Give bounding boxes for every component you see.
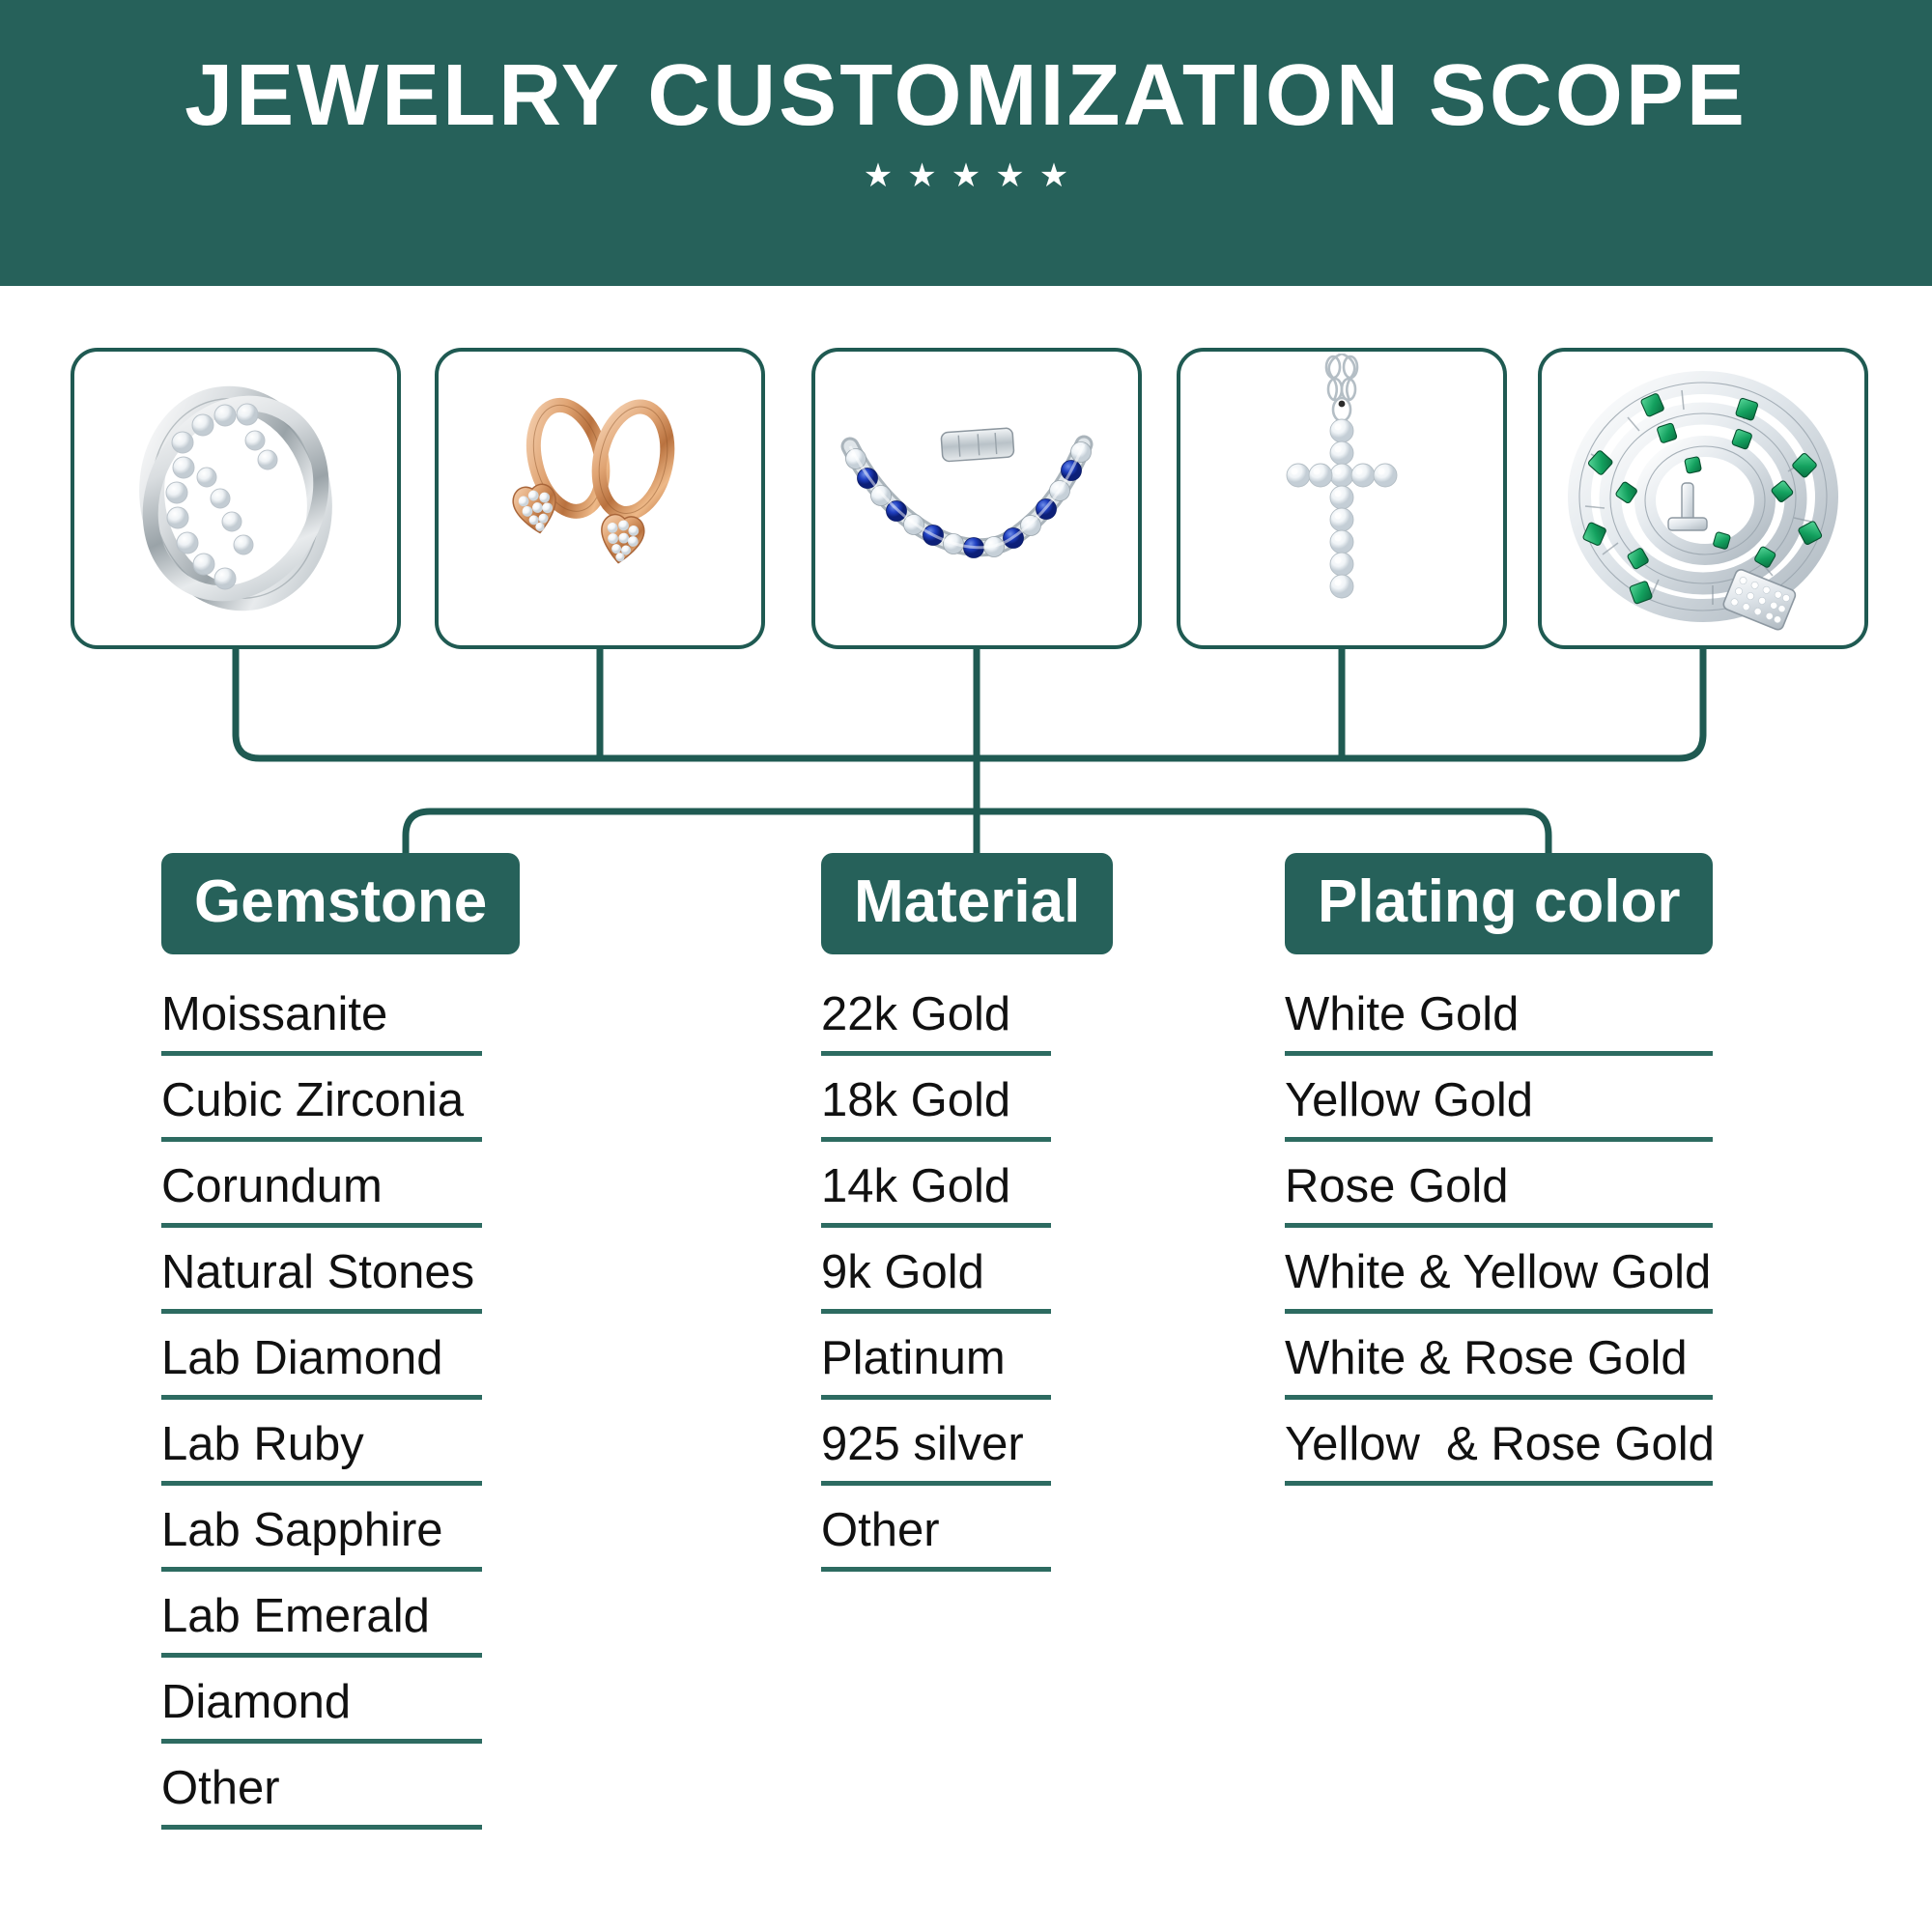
- product-card-sapphire-tennis-bracelet[interactable]: [811, 348, 1142, 649]
- list-item[interactable]: Rose Gold: [1285, 1159, 1713, 1228]
- list-item[interactable]: White Gold: [1285, 987, 1713, 1056]
- crossover-pave-ring-image: [74, 352, 397, 645]
- option-list-material: 22k Gold18k Gold14k Gold9k GoldPlatinum9…: [821, 987, 1135, 1572]
- list-item[interactable]: Lab Sapphire: [161, 1503, 482, 1572]
- list-item[interactable]: Lab Diamond: [161, 1331, 482, 1400]
- diamond-cross-pendant-image: [1180, 352, 1503, 645]
- list-item[interactable]: 14k Gold: [821, 1159, 1051, 1228]
- product-card-heart-drop-hoop-earrings[interactable]: [435, 348, 765, 649]
- list-item[interactable]: Corundum: [161, 1159, 482, 1228]
- list-item[interactable]: 9k Gold: [821, 1245, 1051, 1314]
- header-banner: JEWELRY CUSTOMIZATION SCOPE ★★★★★: [0, 0, 1932, 286]
- category-badge-gemstone[interactable]: Gemstone: [161, 853, 520, 954]
- product-card-emerald-cuban-link-chain[interactable]: [1538, 348, 1868, 649]
- star-icon: ★: [952, 159, 980, 192]
- list-item[interactable]: Cubic Zirconia: [161, 1073, 482, 1142]
- list-item[interactable]: Other: [161, 1761, 482, 1830]
- list-item[interactable]: Lab Ruby: [161, 1417, 482, 1486]
- list-item[interactable]: Natural Stones: [161, 1245, 482, 1314]
- list-item[interactable]: Platinum: [821, 1331, 1051, 1400]
- list-item[interactable]: Moissanite: [161, 987, 482, 1056]
- star-icon: ★: [907, 159, 936, 192]
- category-column-gemstone: GemstoneMoissaniteCubic ZirconiaCorundum…: [161, 853, 606, 1847]
- product-card-crossover-pave-ring[interactable]: [71, 348, 401, 649]
- list-item[interactable]: White & Rose Gold: [1285, 1331, 1713, 1400]
- list-item[interactable]: 22k Gold: [821, 987, 1051, 1056]
- list-item[interactable]: Lab Emerald: [161, 1589, 482, 1658]
- page-title: JEWELRY CUSTOMIZATION SCOPE: [185, 50, 1747, 142]
- emerald-cuban-link-chain-image: [1542, 352, 1864, 645]
- list-item[interactable]: White & Yellow Gold: [1285, 1245, 1713, 1314]
- product-card-row: [0, 348, 1932, 649]
- star-rating-decoration: ★★★★★: [864, 159, 1068, 192]
- category-column-plating-color: Plating colorWhite GoldYellow GoldRose G…: [1285, 853, 1864, 1503]
- list-item[interactable]: Other: [821, 1503, 1051, 1572]
- option-list-gemstone: MoissaniteCubic ZirconiaCorundumNatural …: [161, 987, 606, 1830]
- list-item[interactable]: Yellow Gold: [1285, 1073, 1713, 1142]
- infographic-page: JEWELRY CUSTOMIZATION SCOPE ★★★★★: [0, 0, 1932, 1932]
- sapphire-tennis-bracelet-image: [815, 352, 1138, 645]
- list-item[interactable]: 18k Gold: [821, 1073, 1051, 1142]
- product-card-diamond-cross-pendant[interactable]: [1177, 348, 1507, 649]
- heart-drop-hoop-earrings-image: [439, 352, 761, 645]
- category-badge-material[interactable]: Material: [821, 853, 1113, 954]
- category-column-material: Material22k Gold18k Gold14k Gold9k GoldP…: [821, 853, 1135, 1589]
- connector-bus-upper: [236, 734, 1703, 758]
- star-icon: ★: [1039, 159, 1068, 192]
- list-item[interactable]: 925 silver: [821, 1417, 1051, 1486]
- star-icon: ★: [864, 159, 893, 192]
- option-list-plating-color: White GoldYellow GoldRose GoldWhite & Ye…: [1285, 987, 1864, 1486]
- connector-tree: [0, 645, 1932, 877]
- list-item[interactable]: Yellow & Rose Gold: [1285, 1417, 1713, 1486]
- star-icon: ★: [995, 159, 1024, 192]
- list-item[interactable]: Diamond: [161, 1675, 482, 1744]
- category-badge-plating-color[interactable]: Plating color: [1285, 853, 1713, 954]
